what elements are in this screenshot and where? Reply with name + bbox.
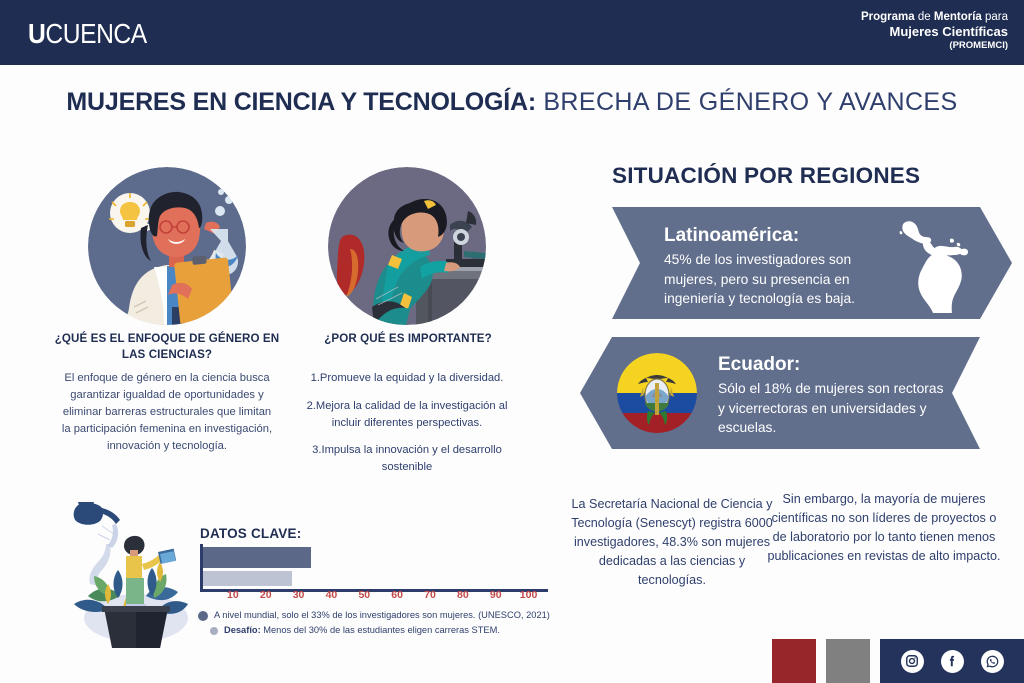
whatsapp-icon[interactable] (981, 650, 1004, 673)
column-1-heading: ¿QUÉ ES EL ENFOQUE DE GÉNERO EN LAS CIEN… (48, 331, 286, 362)
column-1-body: El enfoque de género en la ciencia busca… (58, 370, 276, 455)
brand-word-para: para (982, 11, 1008, 23)
region-text: Sólo el 18% de mujeres son rectoras y vi… (718, 379, 950, 438)
region-name: Latinoamérica: (664, 225, 904, 247)
x-tick-label: 20 (260, 589, 272, 601)
x-tick-label: 50 (358, 589, 370, 601)
bar-series-1 (203, 547, 311, 568)
region-name: Ecuador: (718, 354, 950, 376)
list-item: 2.Mejora la calidad de la investigación … (296, 398, 518, 432)
page-title: MUJERES EN CIENCIA Y TECNOLOGÍA: BRECHA … (0, 88, 1024, 117)
brand-line-2: Mujeres Científicas (861, 24, 1008, 40)
infographic-page: UCUENCA Programa de Mentoría para Mujere… (0, 0, 1024, 683)
brand-word-de: de (915, 11, 934, 23)
page-title-light: BRECHA DE GÉNERO Y AVANCES (536, 88, 958, 116)
chart-x-tick-labels: 102030405060708090100 (200, 589, 548, 605)
x-tick-label: 10 (227, 589, 239, 601)
legend-marker-dot (210, 627, 218, 635)
logo-rest: CUENCA (45, 18, 146, 49)
page-title-bold: MUJERES EN CIENCIA Y TECNOLOGÍA: (66, 88, 536, 116)
region-text: 45% de los investigadores son mujeres, p… (664, 250, 904, 309)
x-tick-label: 80 (457, 589, 469, 601)
chart-title: DATOS CLAVE: (200, 526, 301, 541)
footer-block-red (772, 639, 816, 683)
x-tick-label: 60 (391, 589, 403, 601)
facebook-icon[interactable] (941, 650, 964, 673)
legend-label-rest: Menos del 30% de las estudiantes eligen … (261, 625, 500, 635)
woman-microscope-illustration (328, 167, 486, 325)
latin-america-map (890, 217, 982, 313)
ucuenca-logo: UCUENCA (28, 18, 147, 50)
program-branding: Programa de Mentoría para Mujeres Cientí… (861, 10, 1008, 51)
x-tick-label: 90 (490, 589, 502, 601)
page-header: UCUENCA Programa de Mentoría para Mujere… (0, 0, 1024, 65)
bottom-text-senescyt: La Secretaría Nacional de Ciencia y Tecn… (568, 495, 776, 589)
regions-section-title: SITUACIÓN POR REGIONES (612, 163, 920, 189)
bar-series-2 (203, 571, 292, 586)
footer-social-bar (880, 639, 1024, 683)
legend-item: A nivel mundial, solo el 33% de los inve… (198, 609, 558, 621)
logo-bold: U (28, 18, 45, 49)
ecuador-flag (617, 353, 697, 433)
region-banner-ecuador: Ecuador: Sólo el 18% de mujeres son rect… (580, 337, 980, 449)
x-tick-label: 30 (293, 589, 305, 601)
x-tick-label: 100 (520, 589, 538, 601)
region-banner-latinoamerica: Latinoamérica: 45% de los investigadores… (612, 207, 1012, 319)
column-2-list: 1.Promueve la equidad y la diversidad. 2… (296, 370, 518, 487)
footer-block-gray (826, 639, 870, 683)
list-item: 3.Impulsa la innovación y el desarrollo … (296, 442, 518, 476)
bottom-text-leadership: Sin embargo, la mayoría de mujeres cient… (766, 490, 1002, 566)
list-item: 1.Promueve la equidad y la diversidad. (296, 370, 518, 387)
legend-label-bold: Desafío: (224, 625, 261, 635)
x-tick-label: 70 (424, 589, 436, 601)
watering-can-plant-illustration (58, 500, 208, 650)
legend-item: Desafío: Menos del 30% de las estudiante… (198, 624, 558, 636)
chart-legend: A nivel mundial, solo el 33% de los inve… (198, 609, 558, 639)
x-tick-label: 40 (326, 589, 338, 601)
brand-line-3: (PROMEMCI) (861, 40, 1008, 52)
legend-marker-dot (198, 611, 208, 621)
brand-word-mentoria: Mentoría (934, 11, 982, 23)
brand-line-1: Programa de Mentoría para (861, 10, 1008, 24)
instagram-icon[interactable] (901, 650, 924, 673)
brand-word-programa: Programa (861, 11, 915, 23)
column-2-heading: ¿POR QUÉ ES IMPORTANTE? (310, 331, 506, 347)
legend-label: A nivel mundial, solo el 33% de los inve… (214, 609, 550, 621)
legend-label: Desafío: Menos del 30% de las estudiante… (224, 624, 500, 636)
woman-scientist-flask-illustration (88, 167, 246, 325)
key-data-bar-chart (200, 544, 548, 592)
